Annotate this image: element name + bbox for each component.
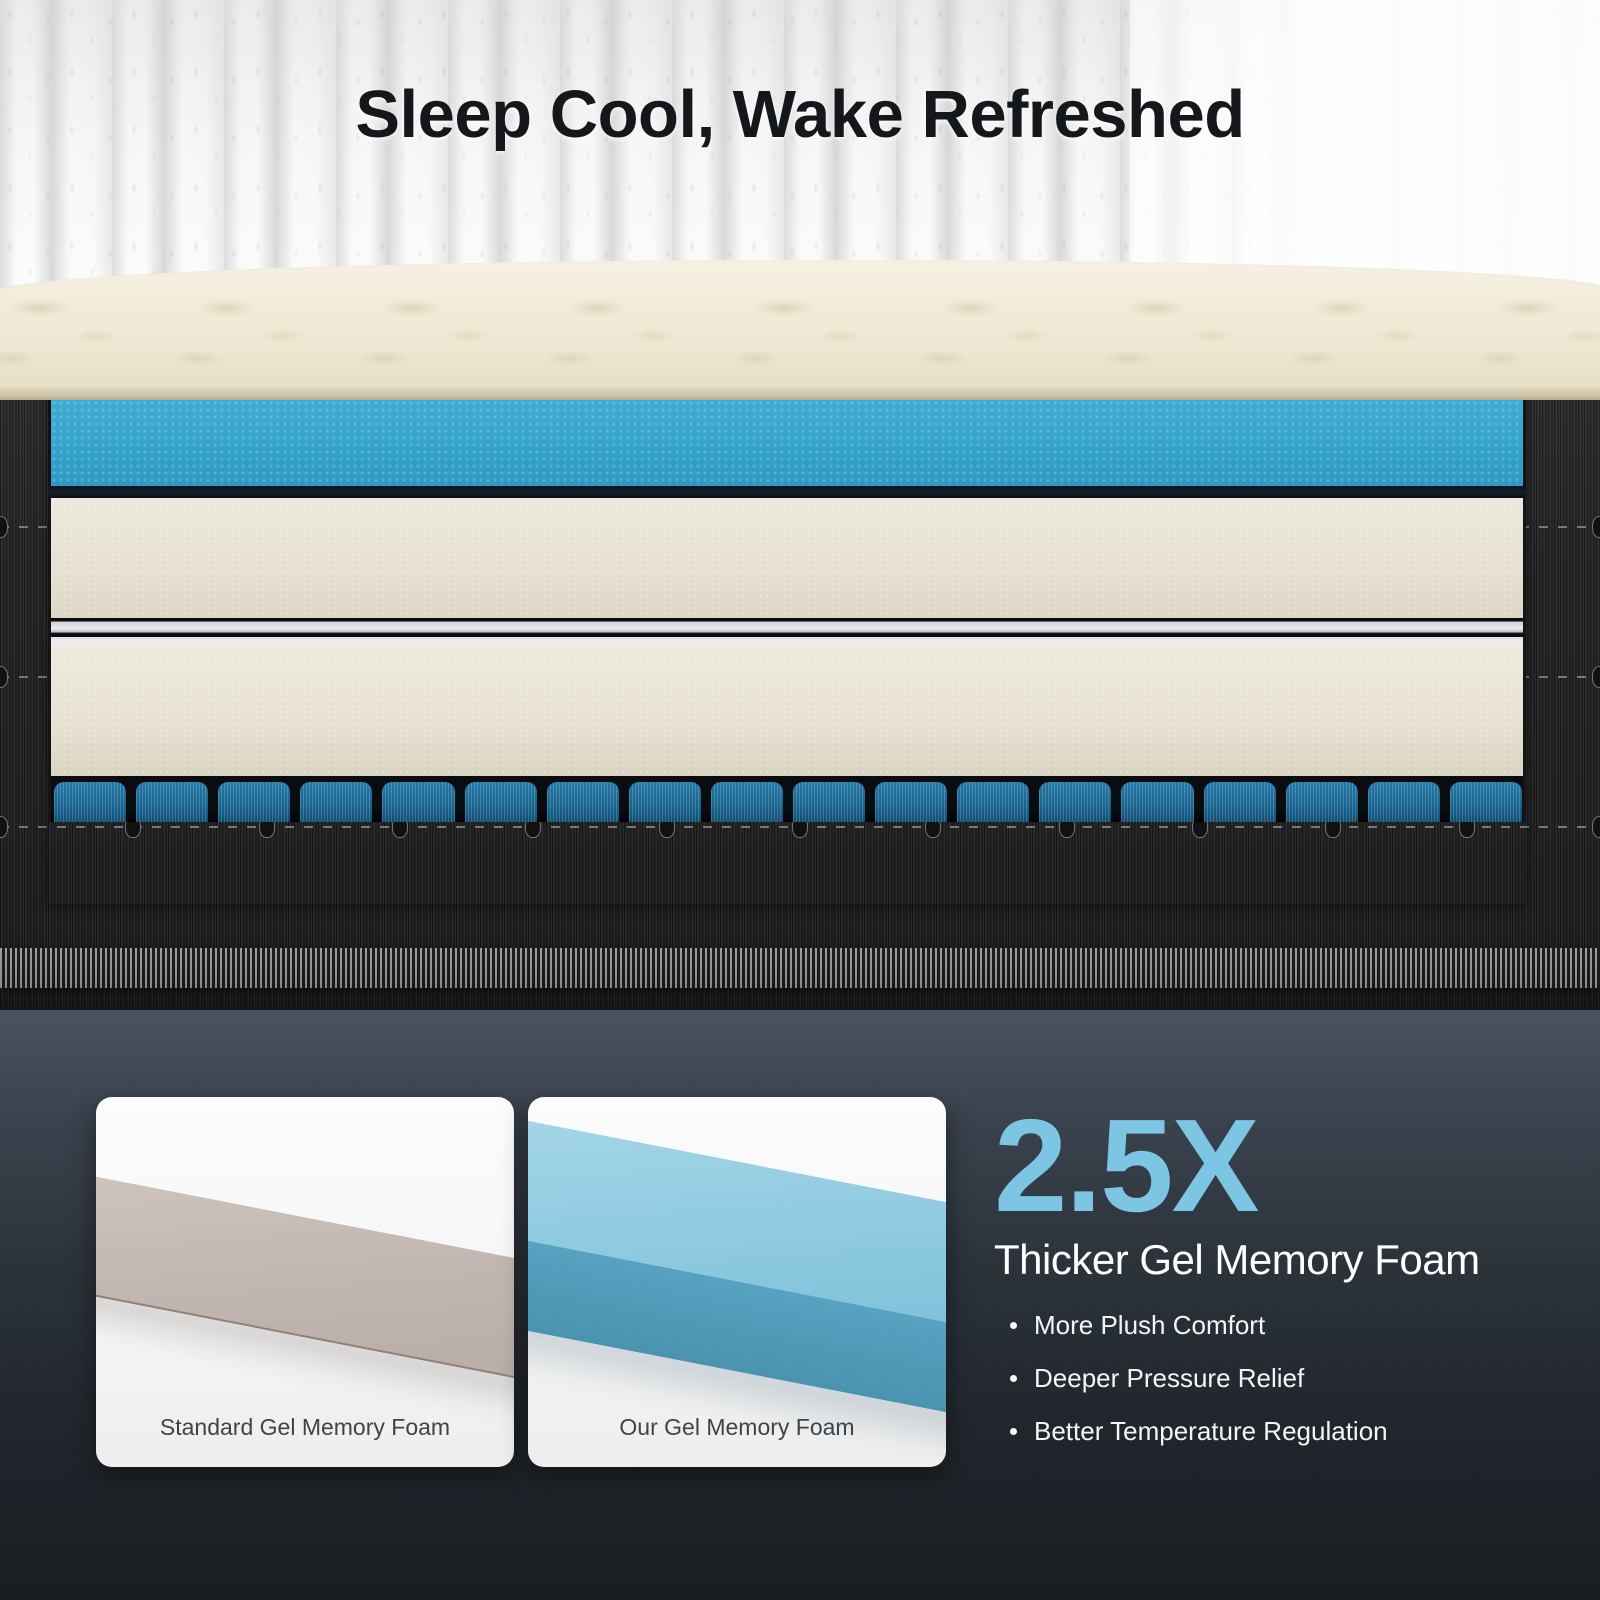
claim-subtitle: Thicker Gel Memory Foam <box>994 1236 1574 1284</box>
pocket-coil <box>136 782 208 822</box>
gel-memory-foam-layer <box>48 388 1526 486</box>
pocket-coil <box>875 782 947 822</box>
claim-block: 2.5X Thicker Gel Memory Foam More Plush … <box>994 1104 1574 1469</box>
benefit-list: More Plush ComfortDeeper Pressure Relief… <box>994 1310 1574 1447</box>
pocket-coil <box>382 782 454 822</box>
product-marketing-image: Sleep Cool, Wake Refreshed <box>0 0 1600 1600</box>
stitch-diamond <box>1592 666 1600 688</box>
benefit-list-item: More Plush Comfort <box>994 1310 1574 1341</box>
transition-stripe-layer <box>48 618 1526 644</box>
benefit-list-item: Deeper Pressure Relief <box>994 1363 1574 1394</box>
card-our-foam: Our Gel Memory Foam <box>528 1097 946 1467</box>
stitch-diamond <box>1592 516 1600 538</box>
pocket-coil <box>1204 782 1276 822</box>
pocket-coil <box>465 782 537 822</box>
support-foam-lower-layer <box>48 644 1526 776</box>
photo-bottom-shadow <box>0 986 1600 1010</box>
pocket-coil-layer <box>48 776 1526 822</box>
stitch-diamond <box>0 816 8 838</box>
quilt-pattern <box>0 278 1600 400</box>
comfort-foam-upper-layer <box>48 498 1526 618</box>
pocket-coil <box>218 782 290 822</box>
layer-divider-dark <box>48 486 1526 498</box>
stitch-diamond <box>1592 816 1600 838</box>
benefit-list-item: Better Temperature Regulation <box>994 1416 1574 1447</box>
card-caption-standard: Standard Gel Memory Foam <box>96 1414 514 1441</box>
multiplier-headline: 2.5X <box>994 1104 1574 1228</box>
pocket-coil <box>711 782 783 822</box>
page-title: Sleep Cool, Wake Refreshed <box>0 76 1600 153</box>
pocket-coil <box>1039 782 1111 822</box>
pocket-coil <box>1368 782 1440 822</box>
mattress-edge-piping <box>0 948 1600 988</box>
pocket-coil <box>547 782 619 822</box>
stitch-diamond <box>0 516 8 538</box>
quilted-cover-edge <box>0 388 1600 400</box>
layer-stack <box>48 388 1526 904</box>
mattress-photo-section: Sleep Cool, Wake Refreshed <box>0 0 1600 1010</box>
quilted-cover-surface <box>0 260 1600 400</box>
pocket-coil <box>629 782 701 822</box>
pocket-coil <box>793 782 865 822</box>
pocket-coil <box>300 782 372 822</box>
card-standard-foam: Standard Gel Memory Foam <box>96 1097 514 1467</box>
pocket-coil <box>1450 782 1522 822</box>
pocket-coil <box>54 782 126 822</box>
pocket-coil <box>1286 782 1358 822</box>
pocket-coil <box>1121 782 1193 822</box>
stitch-diamond <box>0 666 8 688</box>
pocket-coil <box>957 782 1029 822</box>
card-caption-our: Our Gel Memory Foam <box>528 1414 946 1441</box>
mattress-cutaway-illustration <box>0 248 1600 1010</box>
